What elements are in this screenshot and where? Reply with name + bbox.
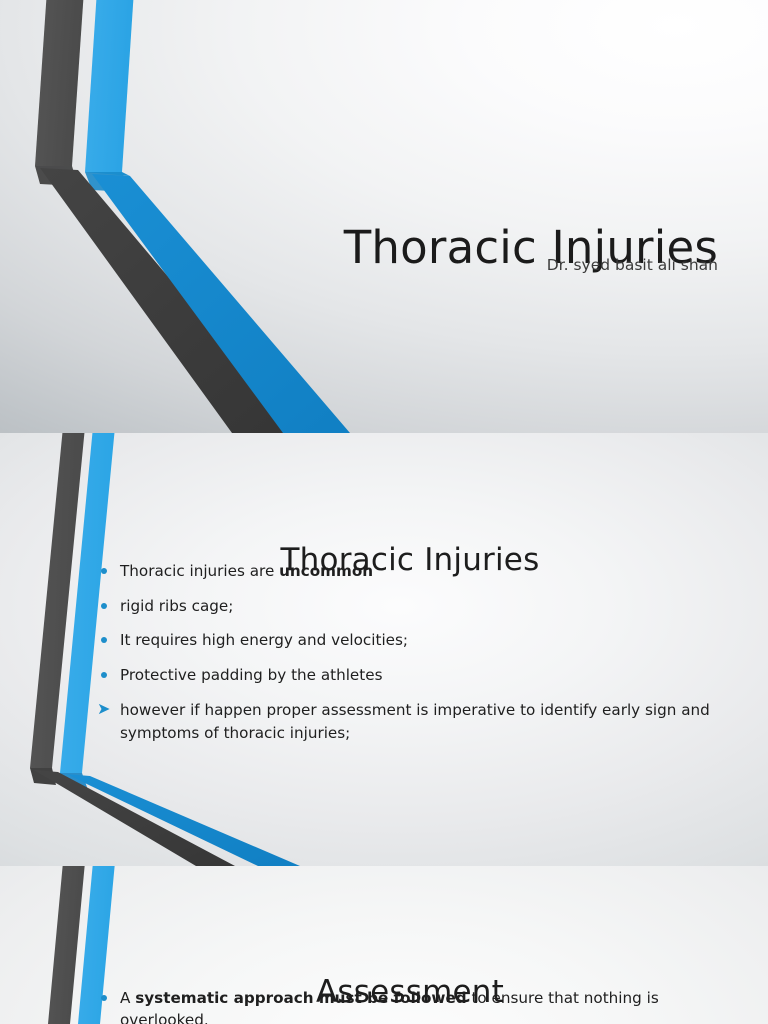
list-item: A systematic approach must be followed t… xyxy=(96,988,721,1024)
list-item-label: A systematic approach must be followed t… xyxy=(120,989,659,1024)
bullet-dot-icon xyxy=(101,568,107,574)
arrow-bullet-icon: ➤ xyxy=(97,700,114,717)
list-item: Protective padding by the athletes xyxy=(96,665,721,687)
list-item-label: rigid ribs cage; xyxy=(120,597,233,615)
list-item-label: Protective padding by the athletes xyxy=(120,666,383,684)
list-item: It requires high energy and velocities; xyxy=(96,630,721,652)
list-item: rigid ribs cage; xyxy=(96,596,721,618)
list-item-label: however if happen proper assessment is i… xyxy=(120,701,710,742)
slide-deck: Thoracic Injuries Dr. syed basit ali sha… xyxy=(0,0,768,1024)
bullet-dot-icon xyxy=(101,637,107,643)
bullet-dot-icon xyxy=(101,995,107,1001)
bullet-list: A systematic approach must be followed t… xyxy=(96,988,721,1024)
slide-background xyxy=(0,0,768,433)
list-item-text: Thoracic injuries are xyxy=(120,562,279,580)
list-item-emphasis: uncommon xyxy=(279,562,373,580)
slide-title: Thoracic Injuries Dr. syed basit ali sha… xyxy=(0,0,768,433)
list-item-label: It requires high energy and velocities; xyxy=(120,631,408,649)
slide-assessment: Assessment A systematic approach must be… xyxy=(0,866,768,1024)
list-item-label: Thoracic injuries are uncommon xyxy=(120,562,373,580)
list-item-emphasis: systematic approach must be followed xyxy=(135,989,466,1007)
list-item: ➤ however if happen proper assessment is… xyxy=(96,699,721,745)
title-subtitle: Dr. syed basit ali shah xyxy=(230,256,718,274)
bullet-dot-icon xyxy=(101,672,107,678)
bullet-list: Thoracic injuries are uncommon rigid rib… xyxy=(96,561,721,746)
slide-thoracic-injuries: Thoracic Injuries Thoracic injuries are … xyxy=(0,433,768,866)
list-item: Thoracic injuries are uncommon xyxy=(96,561,721,583)
list-item-text: A xyxy=(120,989,135,1007)
bullet-dot-icon xyxy=(101,603,107,609)
